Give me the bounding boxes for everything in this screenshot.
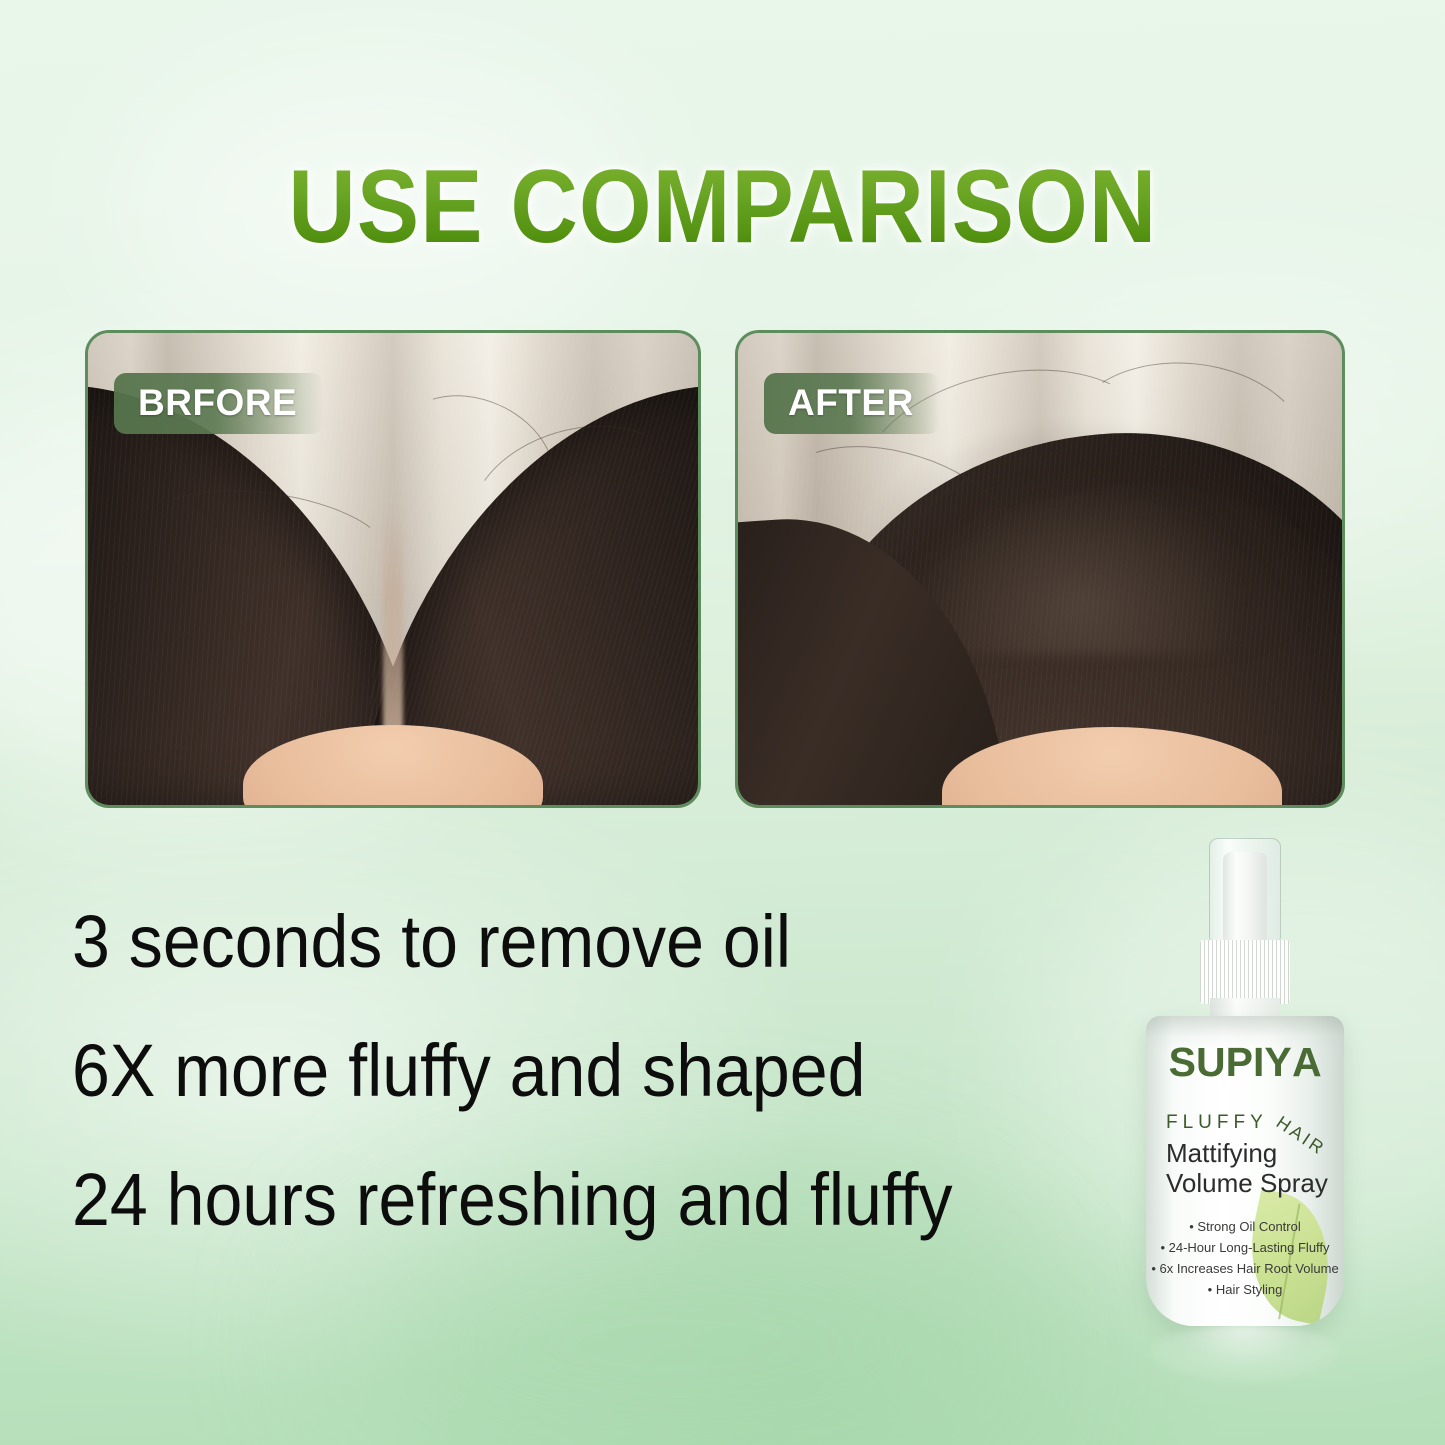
bottle-body: SUPIYA FLUFFY HAIR Mattifying Volume Spr…: [1146, 1016, 1344, 1326]
after-photo: AFTER: [735, 330, 1345, 808]
benefit-line-2: 6X more fluffy and shaped: [72, 1034, 953, 1108]
page-title: USE COMPARISON: [288, 148, 1157, 267]
bottle-reflection: [1150, 1324, 1340, 1382]
product-line-hair: HAIR: [1272, 1112, 1329, 1160]
product-name-line-1: Mattifying: [1166, 1138, 1277, 1168]
benefit-list: 3 seconds to remove oil 6X more fluffy a…: [72, 905, 1029, 1292]
product-feature-2: 24-Hour Long-Lasting Fluffy: [1146, 1237, 1344, 1258]
marketing-page: USE COMPARISON BRFORE: [0, 0, 1445, 1445]
brand-logo-glyph-a: A: [1292, 1042, 1322, 1083]
benefit-line-1: 3 seconds to remove oil: [72, 905, 953, 979]
bottle-spray-nozzle: [1223, 852, 1267, 944]
before-photo: BRFORE: [85, 330, 701, 808]
product-feature-3: 6x Increases Hair Root Volume: [1146, 1258, 1344, 1279]
benefit-line-3: 24 hours refreshing and fluffy: [72, 1163, 953, 1237]
page-title-container: USE COMPARISON: [0, 148, 1445, 267]
product-feature-1: Strong Oil Control: [1146, 1216, 1344, 1237]
brand-logo: SUPIYA: [1146, 1042, 1344, 1083]
brand-logo-text: SUPIY: [1169, 1039, 1292, 1085]
after-badge: AFTER: [764, 373, 940, 434]
product-feature-4: Hair Styling: [1146, 1279, 1344, 1300]
bottle-pump-collar: [1200, 940, 1290, 1004]
product-name-line-2: Volume Spray: [1166, 1168, 1328, 1198]
product-line-fluffy: FLUFFY: [1166, 1112, 1268, 1134]
product-feature-list: Strong Oil Control 24-Hour Long-Lasting …: [1146, 1216, 1344, 1300]
product-bottle: SUPIYA FLUFFY HAIR Mattifying Volume Spr…: [1130, 838, 1360, 1358]
before-badge: BRFORE: [114, 373, 323, 434]
